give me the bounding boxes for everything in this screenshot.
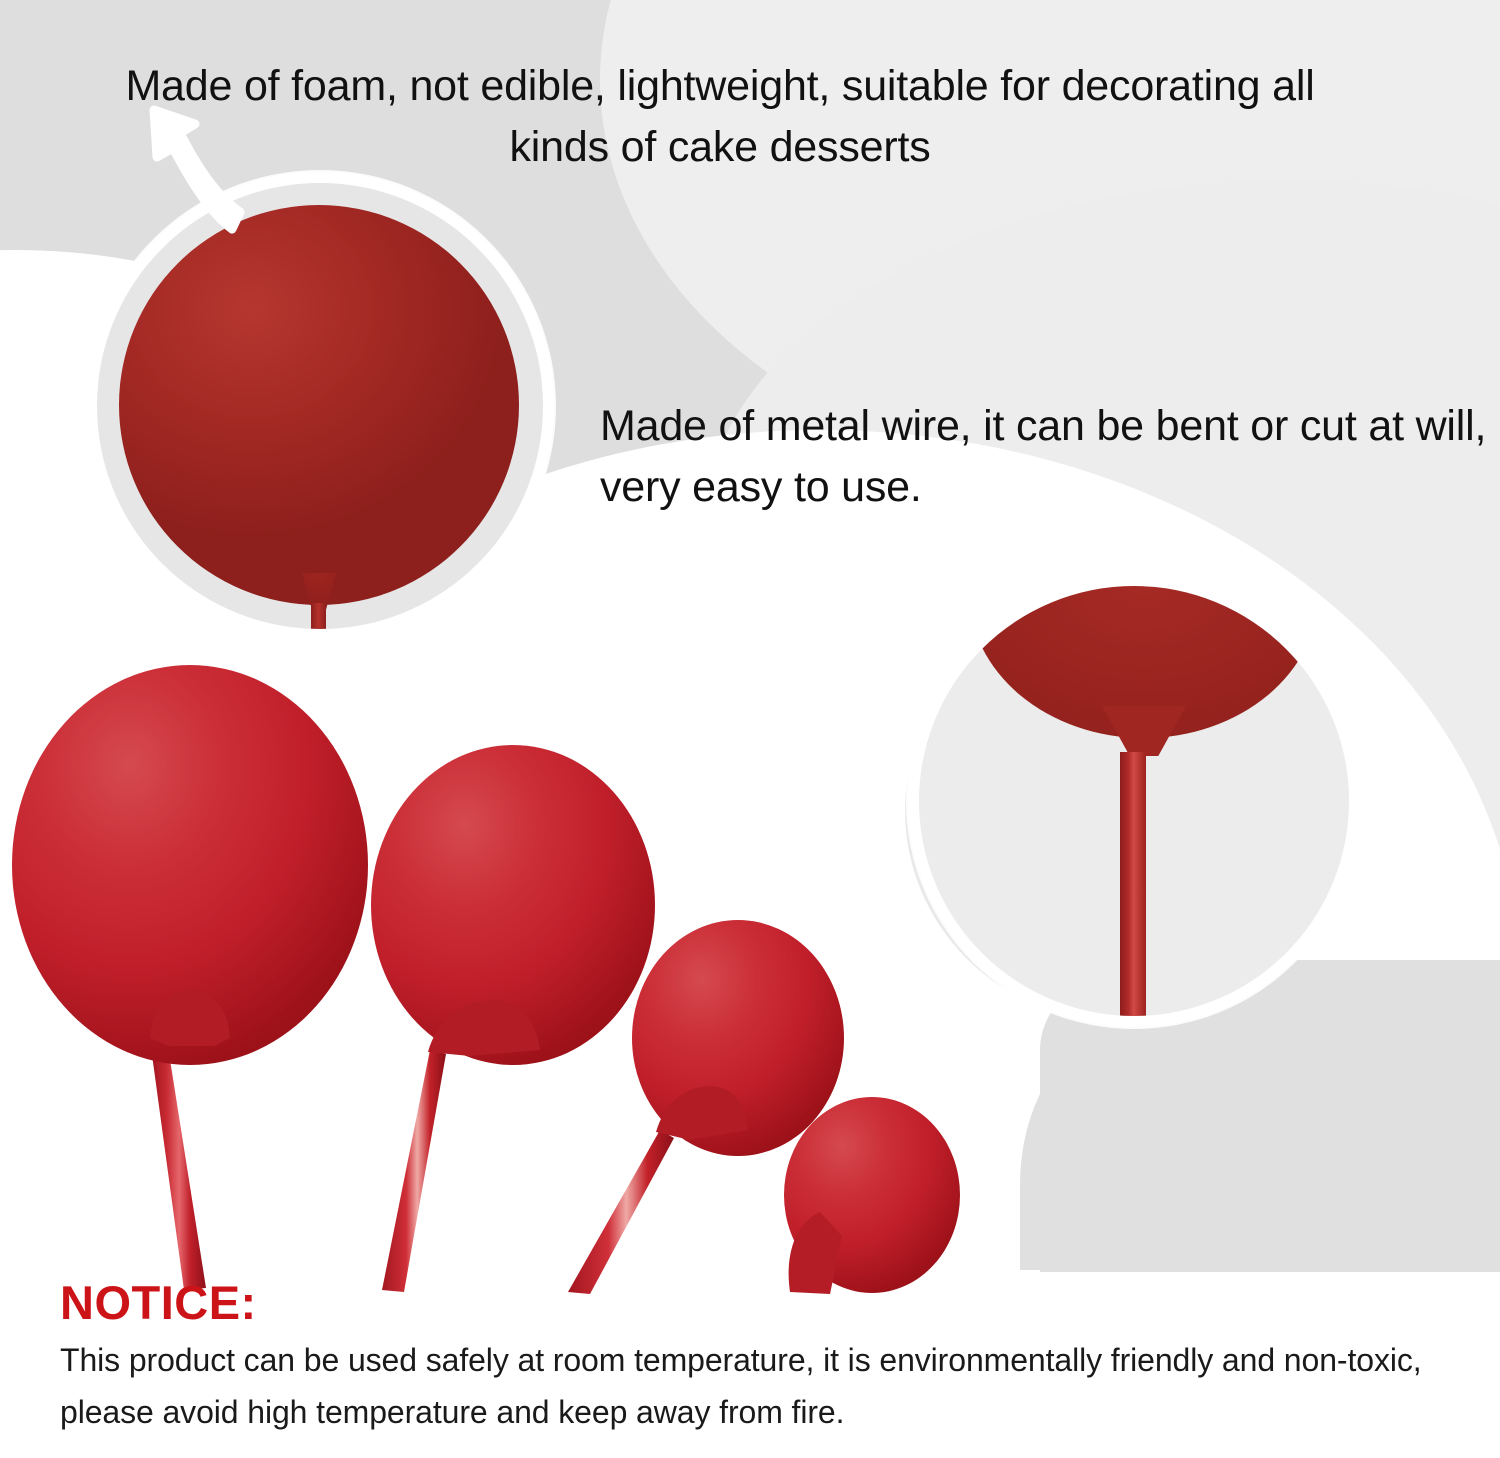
magnifier-wire-stem <box>908 575 1360 1027</box>
magnifier-wire-stem-content <box>919 586 1349 1016</box>
magnified-foam-ball <box>119 205 519 605</box>
notice-heading: NOTICE: <box>60 1278 1460 1327</box>
magnified-metal-wire <box>1120 752 1146 1027</box>
infographic-canvas: Made of foam, not edible, lightweight, s… <box>0 0 1500 1458</box>
magnified-wire-tip <box>1120 1018 1146 1027</box>
magnified-ball-wire <box>311 603 326 640</box>
notice-body: This product can be used safely at room … <box>60 1335 1460 1437</box>
magnifier-foam-ball-content <box>97 183 543 629</box>
arrow-to-wire-callout <box>806 520 961 670</box>
callout-text-foam: Made of foam, not edible, lightweight, s… <box>120 56 1320 178</box>
product-ball-small <box>784 1097 960 1294</box>
notice-block: NOTICE: This product can be used safely … <box>60 1278 1460 1438</box>
product-ball-large <box>371 745 655 1292</box>
product-ball-largest <box>12 665 368 1290</box>
callout-text-wire: Made of metal wire, it can be bent or cu… <box>600 396 1490 518</box>
